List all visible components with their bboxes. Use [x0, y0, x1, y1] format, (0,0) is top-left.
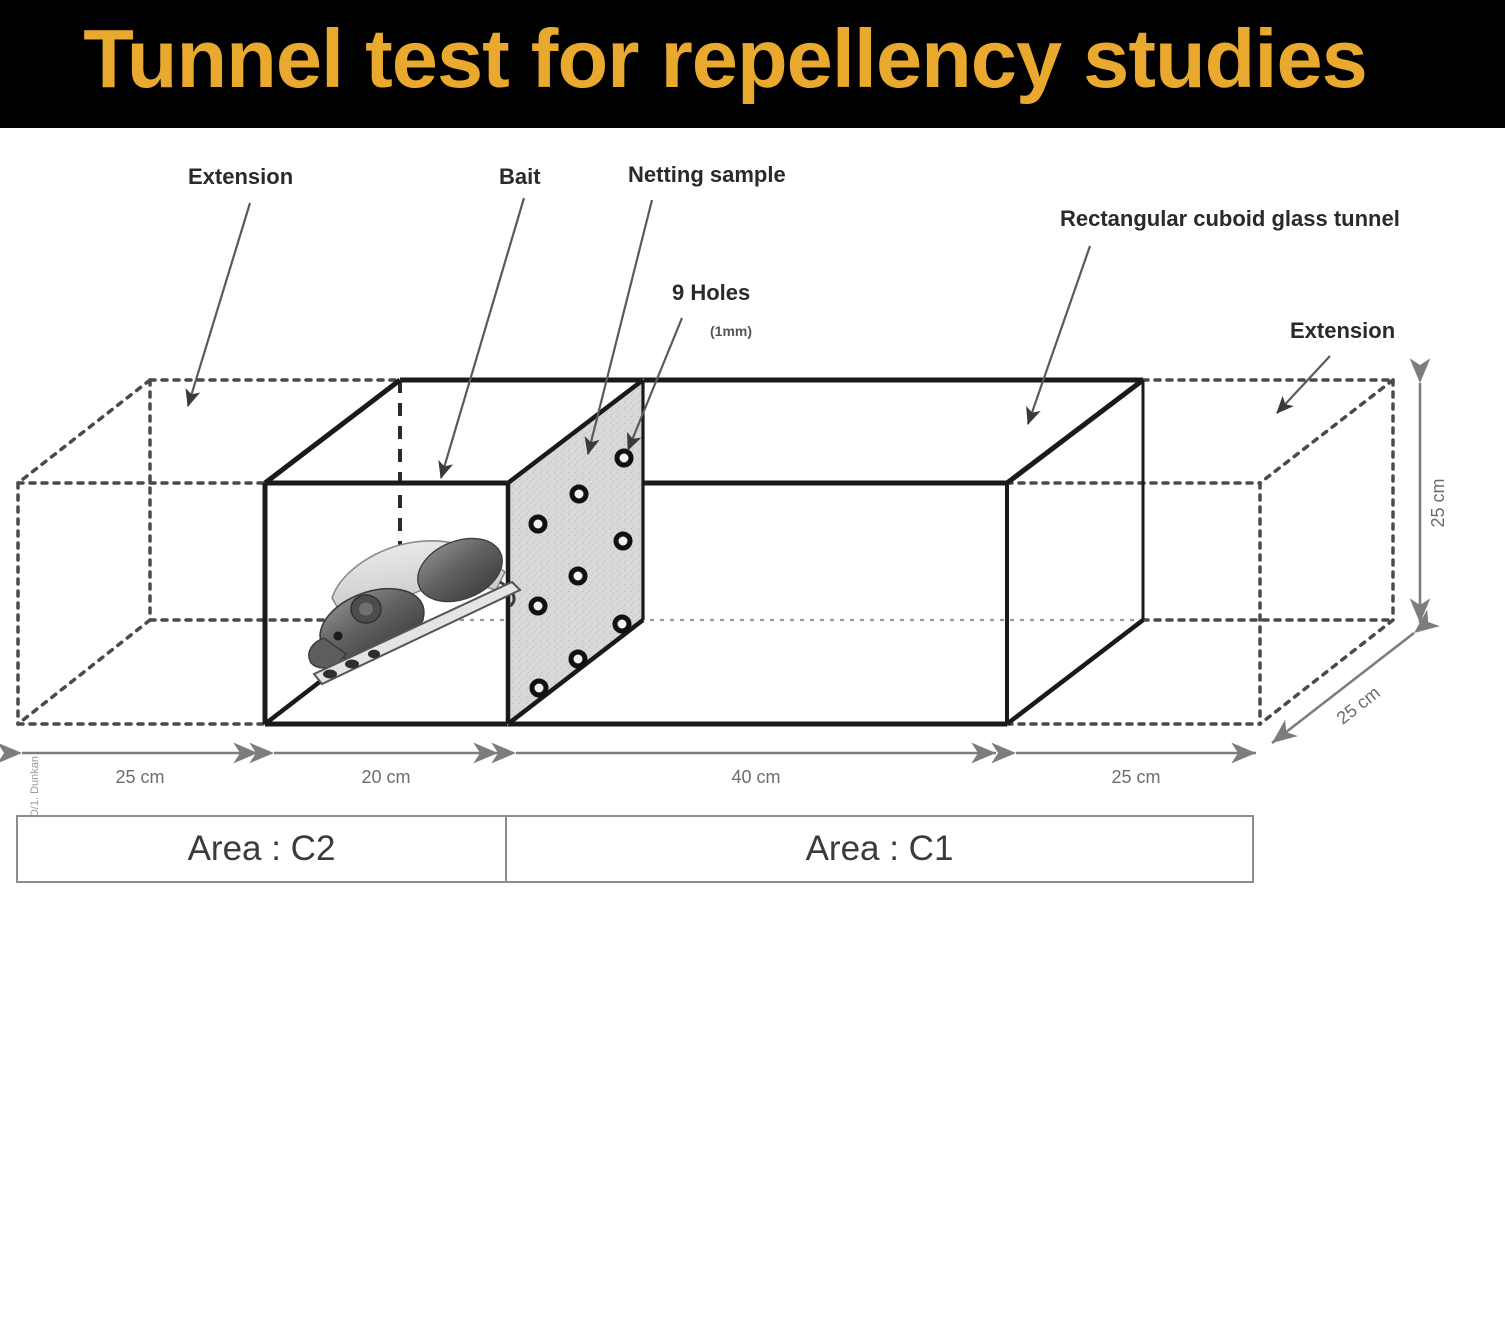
leader-bait — [441, 198, 524, 478]
area-cell-c2: Area : C2 — [18, 817, 507, 881]
label-hole-size: (1mm) — [710, 323, 752, 339]
page-title: Tunnel test for repellency studies — [0, 0, 1450, 128]
area-cell-c1: Area : C1 — [507, 817, 1252, 881]
netting-sample-panel — [508, 380, 643, 724]
tunnel-apparatus-diagram: Extension Bait Netting sample 9 Holes (1… — [0, 128, 1505, 918]
dim-height: 25 cm — [1428, 478, 1448, 527]
label-netting-sample: Netting sample — [628, 162, 786, 187]
dim-area-c1: 40 cm — [731, 767, 780, 787]
slide-page: Tunnel test for repellency studies — [0, 0, 1505, 1337]
callout-leader-lines — [188, 198, 1330, 478]
label-9-holes: 9 Holes — [672, 280, 750, 305]
area-table: Area : C2 Area : C1 — [16, 815, 1254, 883]
title-banner: Tunnel test for repellency studies — [0, 0, 1505, 128]
leader-extension-right — [1277, 356, 1330, 413]
right-extension-wireframe — [1007, 380, 1393, 724]
leader-extension-left — [188, 203, 250, 406]
dim-extension-left: 25 cm — [115, 767, 164, 787]
dim-extension-right: 25 cm — [1111, 767, 1160, 787]
label-bait: Bait — [499, 164, 541, 189]
label-extension-left: Extension — [188, 164, 293, 189]
label-glass-tunnel: Rectangular cuboid glass tunnel — [1060, 206, 1400, 231]
bait-mouse-illustration — [309, 527, 520, 684]
leader-tunnel — [1028, 246, 1090, 424]
dim-area-c2: 20 cm — [361, 767, 410, 787]
label-extension-right: Extension — [1290, 318, 1395, 343]
